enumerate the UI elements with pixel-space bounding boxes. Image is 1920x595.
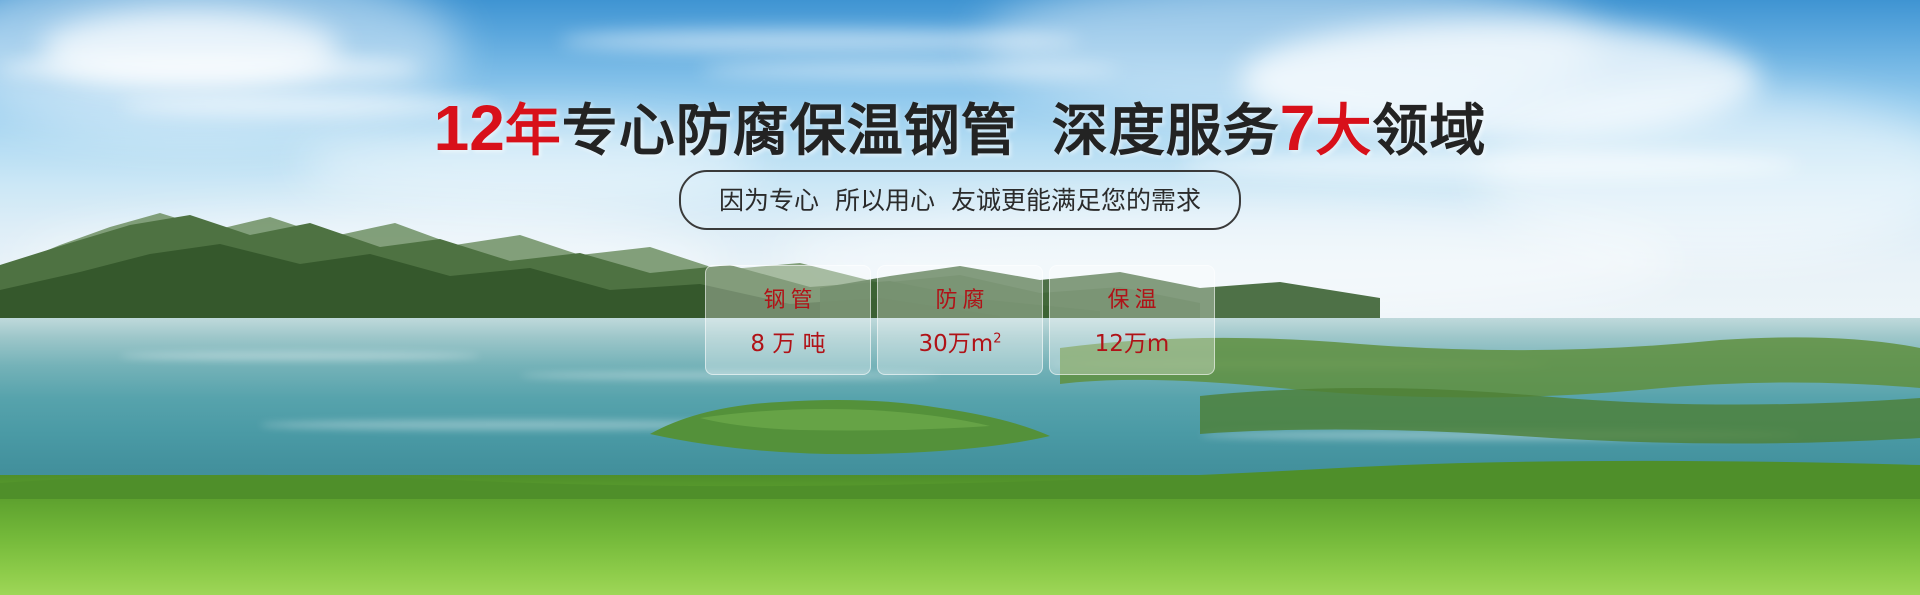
headline-years-unit: 年 (505, 99, 562, 164)
stat-card-insulation[interactable]: 保温 12万m (1049, 265, 1215, 375)
headline-fields-text: 领域 (1372, 99, 1486, 164)
hero-banner: 12年专心防腐保温钢管深度服务7大领域 因为专心所以用心友诚更能满足您的需求 钢… (0, 0, 1920, 595)
subtitle-segment-1: 因为专心 (719, 186, 819, 215)
stat-card-steel-pipe[interactable]: 钢管 8 万 吨 (705, 265, 871, 375)
water-glint (120, 352, 480, 360)
headline-main-text: 专心防腐保温钢管 (562, 99, 1018, 164)
stat-card-value-superscript: 2 (993, 331, 1001, 346)
subtitle-segment-3: 友诚更能满足您的需求 (951, 186, 1201, 215)
subtitle-segment-2: 所以用心 (835, 186, 935, 215)
stat-card-group: 钢管 8 万 吨 防腐 30万m2 保温 12万m (705, 265, 1215, 375)
stat-card-label: 防腐 (930, 282, 989, 314)
headline-fields-number: 7 (1280, 92, 1316, 164)
stat-card-anticorrosion[interactable]: 防腐 30万m2 (877, 265, 1043, 375)
grass-edge (0, 439, 1920, 499)
stat-card-value: 12万m (1095, 324, 1170, 358)
stat-card-value-text: 30万m (919, 331, 994, 357)
stat-card-label: 保温 (1102, 282, 1161, 314)
page-title: 12年专心防腐保温钢管深度服务7大领域 (0, 86, 1920, 167)
stat-card-value-text: 12万m (1095, 331, 1170, 357)
subtitle-pill: 因为专心所以用心友诚更能满足您的需求 (679, 170, 1241, 230)
stat-card-value: 30万m2 (919, 324, 1002, 358)
stat-card-value-text: 8 万 吨 (750, 331, 825, 357)
headline-years-number: 12 (434, 92, 505, 164)
stat-card-value: 8 万 吨 (750, 324, 825, 358)
cloud-streak (0, 55, 420, 81)
headline-fields-unit: 大 (1315, 99, 1372, 164)
stat-card-label: 钢管 (758, 282, 817, 314)
headline-service-text: 深度服务 (1052, 99, 1280, 164)
